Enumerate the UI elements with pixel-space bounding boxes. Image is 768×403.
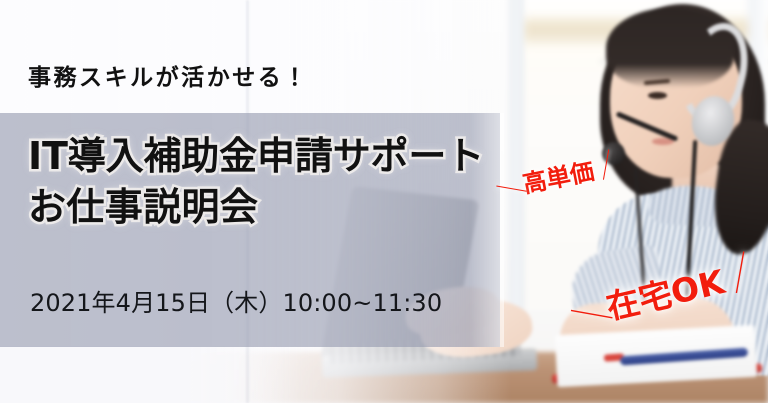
kicker-text: 事務スキルが活かせる！ <box>28 58 309 92</box>
badge-high-unit-price: ＼ 高単価 ／ <box>494 146 622 204</box>
headline-line-2: お仕事説明会 <box>28 182 484 233</box>
headline-line-1: IT導入補助金申請サポート <box>28 131 484 182</box>
badge-high-unit-price-label: 高単価 <box>519 151 596 199</box>
badge-work-from-home: ＼ 在宅OK ／ <box>567 247 763 336</box>
headline: IT導入補助金申請サポート お仕事説明会 <box>28 131 484 233</box>
event-datetime: 2021年4月15日（木）10:00~11:30 <box>30 283 442 318</box>
text-layer: 事務スキルが活かせる！ IT導入補助金申請サポート お仕事説明会 2021年4月… <box>0 0 768 403</box>
badge-work-from-home-label: 在宅OK <box>601 255 728 329</box>
promo-banner: 事務スキルが活かせる！ IT導入補助金申請サポート お仕事説明会 2021年4月… <box>0 0 768 403</box>
